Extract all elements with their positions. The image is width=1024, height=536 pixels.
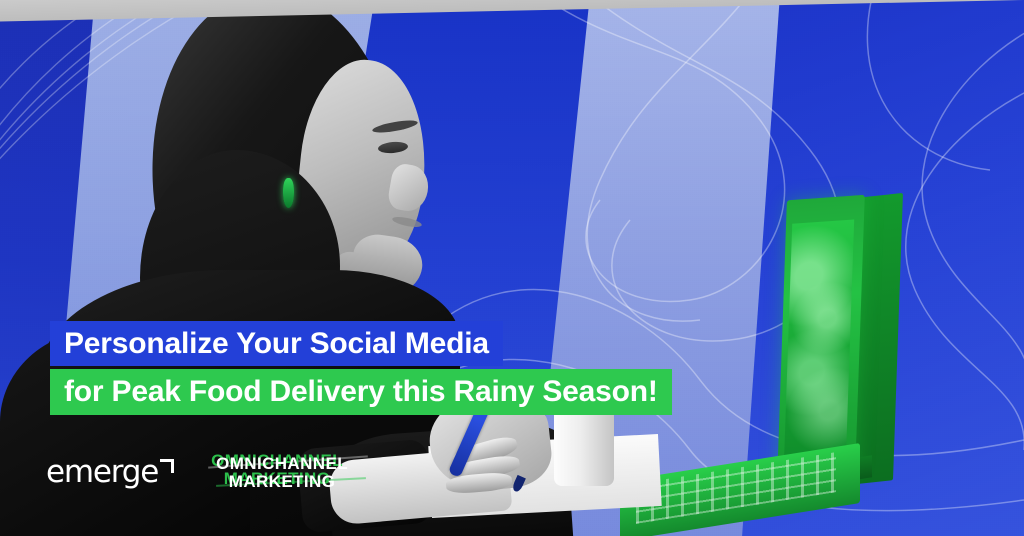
- coffee-cup: [554, 406, 614, 486]
- social-media-banner-graphic: Personalize Your Social Media for Peak F…: [0, 0, 1024, 536]
- omnichannel-marketing-logo[interactable]: OMNICHANNEL MARKETING OMNICHANNEL MARKET…: [216, 455, 348, 491]
- headline-banner-line-1: Personalize Your Social Media: [50, 321, 503, 366]
- emerge-wordmark: emerge: [46, 457, 158, 488]
- green-earring: [283, 178, 294, 208]
- omnichannel-main-layer: OMNICHANNEL MARKETING: [216, 455, 348, 491]
- omnichannel-line-2: MARKETING: [216, 473, 348, 491]
- omnichannel-line-1: OMNICHANNEL: [216, 455, 348, 473]
- logo-lockup: emerge OMNICHANNEL MARKETING OMNICHANNEL…: [46, 455, 348, 491]
- laptop-screen: [784, 219, 854, 466]
- green-laptop: [612, 192, 942, 522]
- subject-nose: [386, 162, 431, 214]
- emerge-logo[interactable]: emerge: [46, 457, 174, 488]
- corner-bracket-icon: [160, 459, 174, 473]
- headline-text-line-1: Personalize Your Social Media: [64, 327, 489, 361]
- headline-text-line-2: for Peak Food Delivery this Rainy Season…: [64, 375, 658, 409]
- headline-banner-line-2: for Peak Food Delivery this Rainy Season…: [50, 369, 672, 415]
